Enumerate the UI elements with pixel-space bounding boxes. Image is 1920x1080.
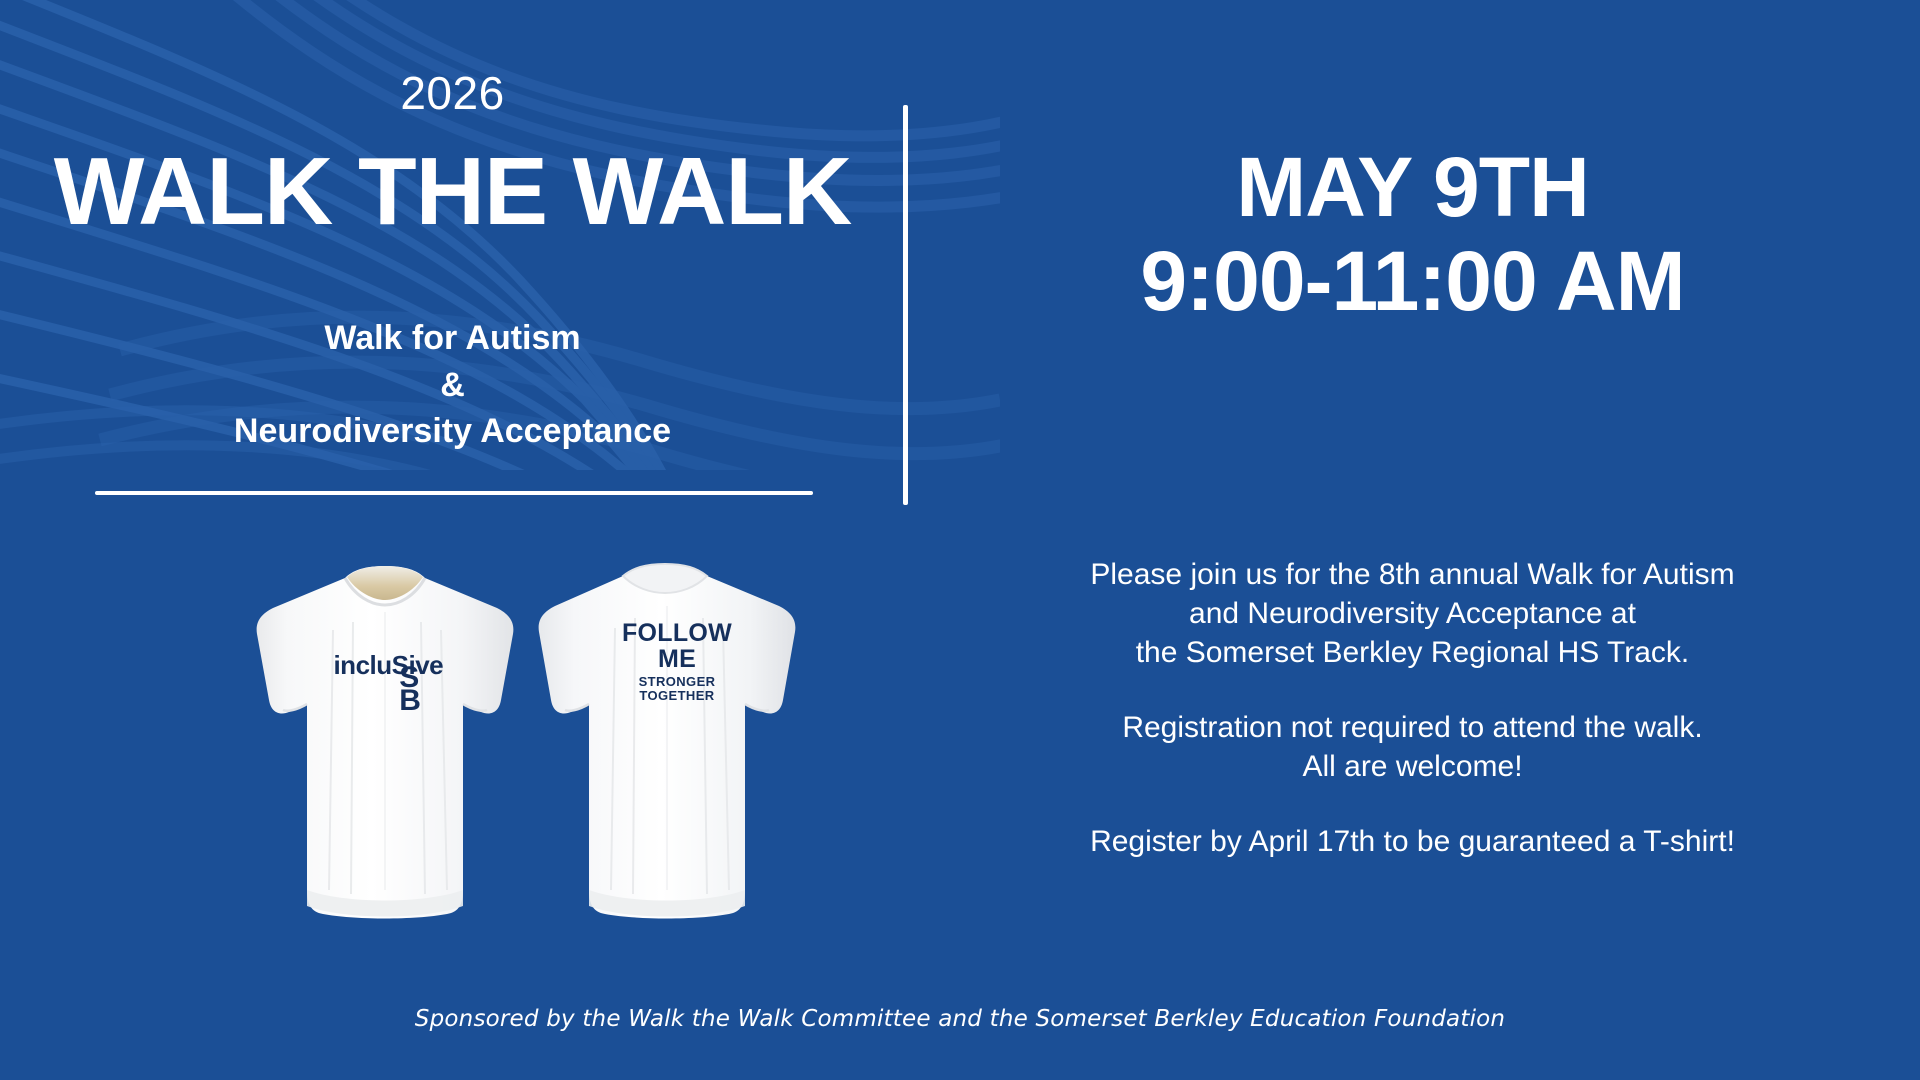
subtitle-line-2: & bbox=[0, 362, 905, 409]
tshirt-front-illustration bbox=[235, 560, 535, 950]
left-column: 2026 WALK THE WALK Walk for Autism & Neu… bbox=[0, 0, 905, 1080]
poster-root: { "theme": { "background": "#1b4f96", "b… bbox=[0, 0, 1920, 1080]
horizontal-divider bbox=[95, 491, 813, 495]
tshirt-back: FOLLOW ME STRONGER TOGETHER bbox=[515, 560, 815, 950]
description-line-3: the Somerset Berkley Regional HS Track. bbox=[905, 633, 1920, 672]
tshirt-back-illustration bbox=[515, 560, 815, 950]
paragraph-gap-1 bbox=[905, 672, 1920, 708]
tshirt-mockups: incluSive S B bbox=[0, 560, 905, 960]
right-column: MAY 9TH 9:00-11:00 AM Please join us for… bbox=[905, 0, 1920, 1080]
event-description: Please join us for the 8th annual Walk f… bbox=[905, 555, 1920, 861]
page-title: WALK THE WALK bbox=[0, 140, 905, 244]
event-subtitle: Walk for Autism & Neurodiversity Accepta… bbox=[0, 315, 905, 455]
tshirt-deadline-note: Register by April 17th to be guaranteed … bbox=[905, 822, 1920, 861]
sponsor-footer: Sponsored by the Walk the Walk Committee… bbox=[0, 1006, 1920, 1032]
subtitle-line-3: Neurodiversity Acceptance bbox=[0, 408, 905, 455]
event-date: MAY 9TH bbox=[905, 140, 1920, 234]
event-datetime: MAY 9TH 9:00-11:00 AM bbox=[905, 140, 1920, 328]
description-line-2: and Neurodiversity Acceptance at bbox=[905, 594, 1920, 633]
registration-note-line-1: Registration not required to attend the … bbox=[905, 708, 1920, 747]
event-time: 9:00-11:00 AM bbox=[905, 234, 1920, 328]
event-year: 2026 bbox=[0, 70, 905, 116]
subtitle-line-1: Walk for Autism bbox=[0, 315, 905, 362]
description-line-1: Please join us for the 8th annual Walk f… bbox=[905, 555, 1920, 594]
paragraph-gap-2 bbox=[905, 786, 1920, 822]
tshirt-front: incluSive S B bbox=[235, 560, 535, 950]
registration-note-line-2: All are welcome! bbox=[905, 747, 1920, 786]
